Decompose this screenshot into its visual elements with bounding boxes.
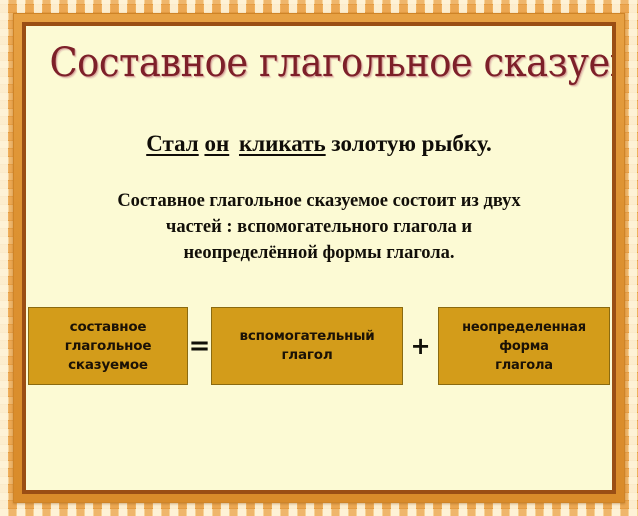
formula-box-compound-verbal-predicate: составное глагольное сказуемое [28, 307, 188, 385]
slide-content-panel: Составное глагольное сказуемое Стал он к… [26, 26, 612, 490]
formula-box-1-line-3: сказуемое [65, 356, 152, 375]
formula-box-2-line-1: вспомогательный [239, 327, 374, 346]
example-sentence-rest: золотую рыбку. [331, 131, 491, 156]
example-word-subject: он [204, 131, 233, 156]
formula-box-infinitive-form: неопределенная форма глагола [438, 307, 610, 385]
definition-paragraph: Составное глагольное сказуемое состоит и… [62, 188, 576, 266]
definition-line-1: Составное глагольное сказуемое состоит и… [62, 188, 576, 214]
definition-line-3: неопределённой формы глагола. [62, 240, 576, 266]
formula-box-2-line-2: глагол [239, 346, 374, 365]
page-title: Составное глагольное сказуемое [49, 40, 588, 86]
formula-box-3-line-2: форма [462, 337, 586, 356]
formula-box-3-text: неопределенная форма глагола [462, 318, 586, 375]
formula-box-1-line-1: составное [65, 318, 152, 337]
formula-diagram: составное глагольное сказуемое = вспомог… [26, 307, 612, 391]
plus-sign: + [403, 307, 438, 385]
formula-box-auxiliary-verb: вспомогательный глагол [211, 307, 403, 385]
formula-box-3-line-1: неопределенная [462, 318, 586, 337]
definition-line-2: частей : вспомогательного глагола и [62, 214, 576, 240]
formula-box-1-line-2: глагольное [65, 337, 152, 356]
formula-box-2-text: вспомогательный глагол [239, 327, 374, 365]
slide-canvas: Составное глагольное сказуемое Стал он к… [0, 0, 638, 516]
example-sentence: Стал он кликать золотую рыбку. [26, 130, 612, 158]
formula-box-1-text: составное глагольное сказуемое [65, 318, 152, 375]
example-word-auxiliary-verb: Стал [146, 131, 199, 156]
example-word-infinitive: кликать [239, 131, 326, 156]
equals-sign: = [188, 307, 211, 385]
formula-box-3-line-3: глагола [462, 356, 586, 375]
